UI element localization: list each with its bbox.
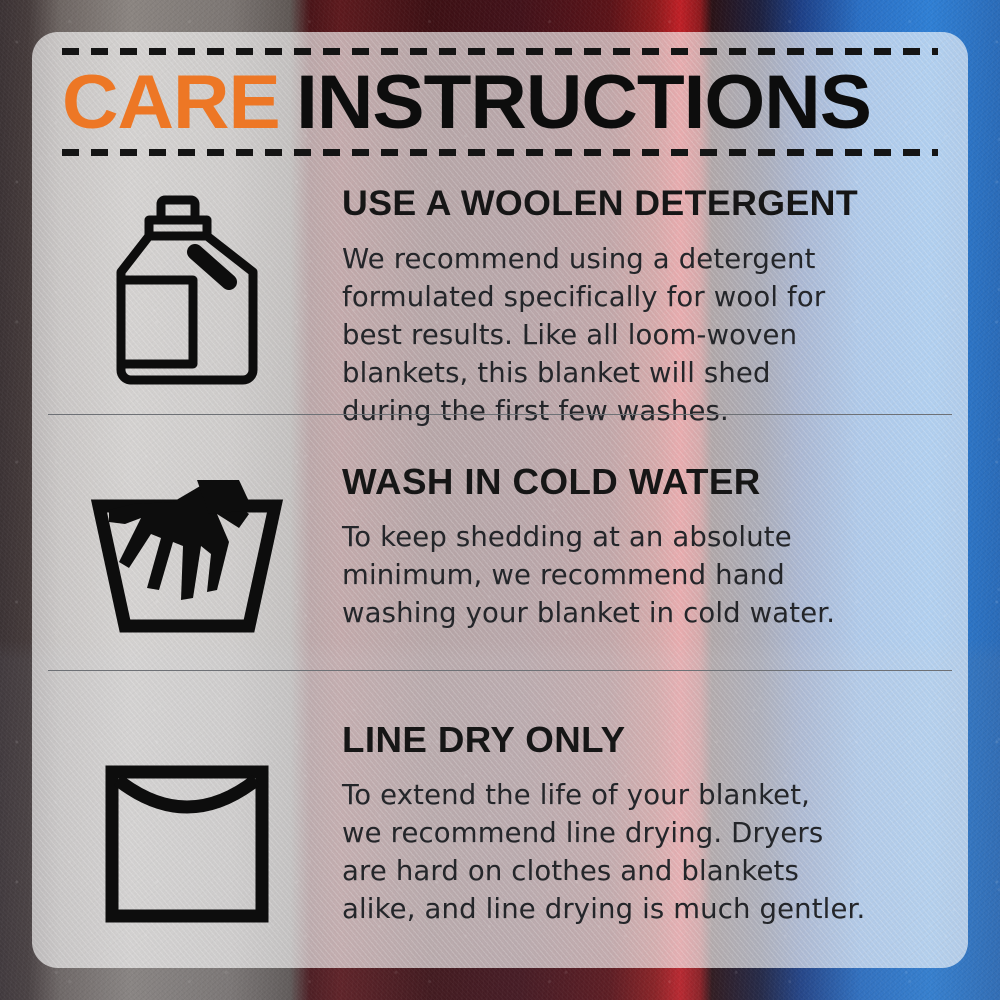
header-bottom-dashed-rule: [62, 149, 938, 156]
care-step-line-dry: LINE DRY ONLY To extend the life of your…: [32, 720, 968, 928]
page-title: CAREINSTRUCTIONS: [62, 64, 964, 142]
care-step-body: To keep shedding at an absolute minimum,…: [342, 518, 954, 632]
detergent-bottle-icon: [32, 184, 342, 392]
care-step-heading: LINE DRY ONLY: [342, 720, 966, 760]
care-step-heading: WASH IN COLD WATER: [342, 462, 966, 502]
page-title-accent: CARE: [62, 60, 280, 145]
section-divider: [48, 670, 952, 671]
hand-wash-basin-icon: [32, 462, 342, 640]
header-top-dashed-rule: [62, 48, 938, 55]
care-step-body: We recommend using a detergent formulate…: [342, 240, 954, 430]
page-title-main: INSTRUCTIONS: [296, 60, 871, 145]
header: CAREINSTRUCTIONS: [62, 48, 938, 156]
instructions-panel: CAREINSTRUCTIONS: [32, 32, 968, 968]
section-divider: [48, 414, 952, 415]
care-step-hand-wash: WASH IN COLD WATER To keep shedding at a…: [32, 462, 968, 640]
care-step-detergent: USE A WOOLEN DETERGENT We recommend usin…: [32, 184, 968, 430]
care-step-heading: USE A WOOLEN DETERGENT: [342, 184, 966, 224]
line-dry-square-icon: [32, 720, 342, 924]
care-step-body: To extend the life of your blanket, we r…: [342, 776, 954, 928]
care-instructions-graphic: CAREINSTRUCTIONS: [0, 0, 1000, 1000]
